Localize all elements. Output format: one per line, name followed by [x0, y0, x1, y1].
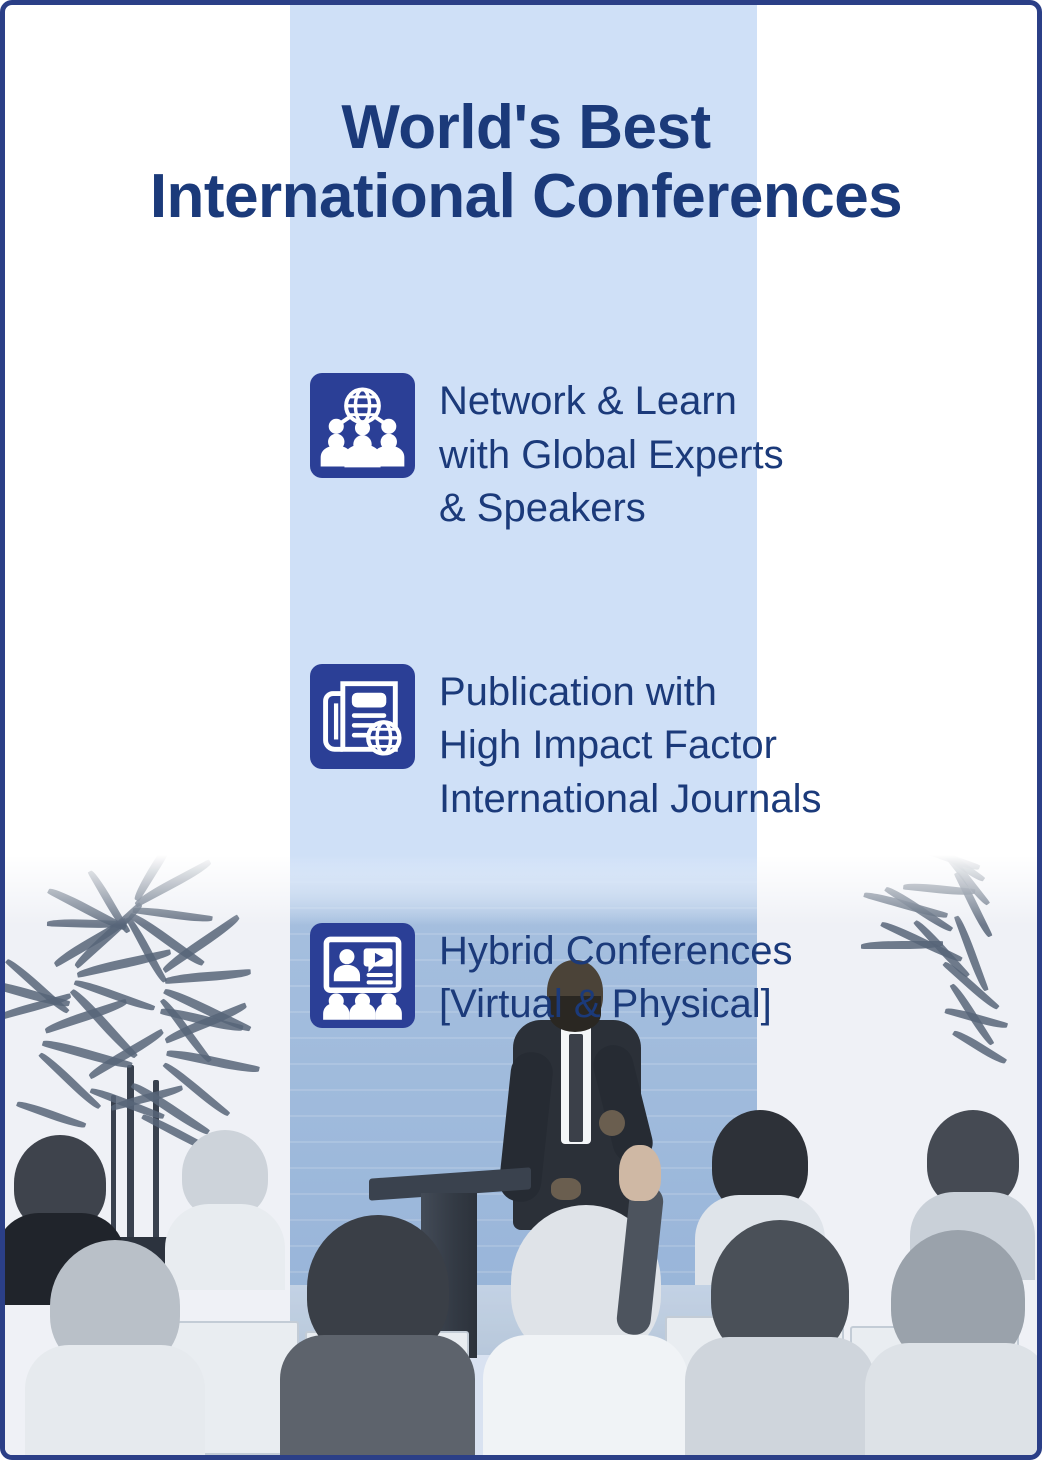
feature-line: Publication with [439, 666, 821, 720]
feature-line: with Global Experts [439, 429, 784, 483]
feature-line: Hybrid Conferences [439, 925, 793, 979]
presentation-screen-audience-icon [310, 923, 415, 1028]
feature-item-network: Network & Learn with Global Experts & Sp… [310, 373, 1010, 536]
title-line-1: World's Best [5, 93, 1042, 162]
feature-text-hybrid: Hybrid Conferences [Virtual & Physical] [439, 923, 793, 1032]
poster-title: World's Best International Conferences [5, 93, 1042, 232]
feature-text-publication: Publication with High Impact Factor Inte… [439, 664, 821, 827]
feature-line: & Speakers [439, 482, 784, 536]
feature-text-network: Network & Learn with Global Experts & Sp… [439, 373, 784, 536]
globe-network-people-icon [310, 373, 415, 478]
feature-item-publication: Publication with High Impact Factor Inte… [310, 664, 1010, 827]
feature-line: Network & Learn [439, 375, 784, 429]
newspaper-journal-globe-icon [310, 664, 415, 769]
feature-line: International Journals [439, 773, 821, 827]
feature-line: [Virtual & Physical] [439, 978, 793, 1032]
feature-line: High Impact Factor [439, 719, 821, 773]
conference-promo-poster: World's Best International Conferences [0, 0, 1042, 1460]
feature-list: Network & Learn with Global Experts & Sp… [310, 373, 1010, 1032]
title-line-2: International Conferences [5, 162, 1042, 231]
feature-item-hybrid: Hybrid Conferences [Virtual & Physical] [310, 923, 1010, 1032]
